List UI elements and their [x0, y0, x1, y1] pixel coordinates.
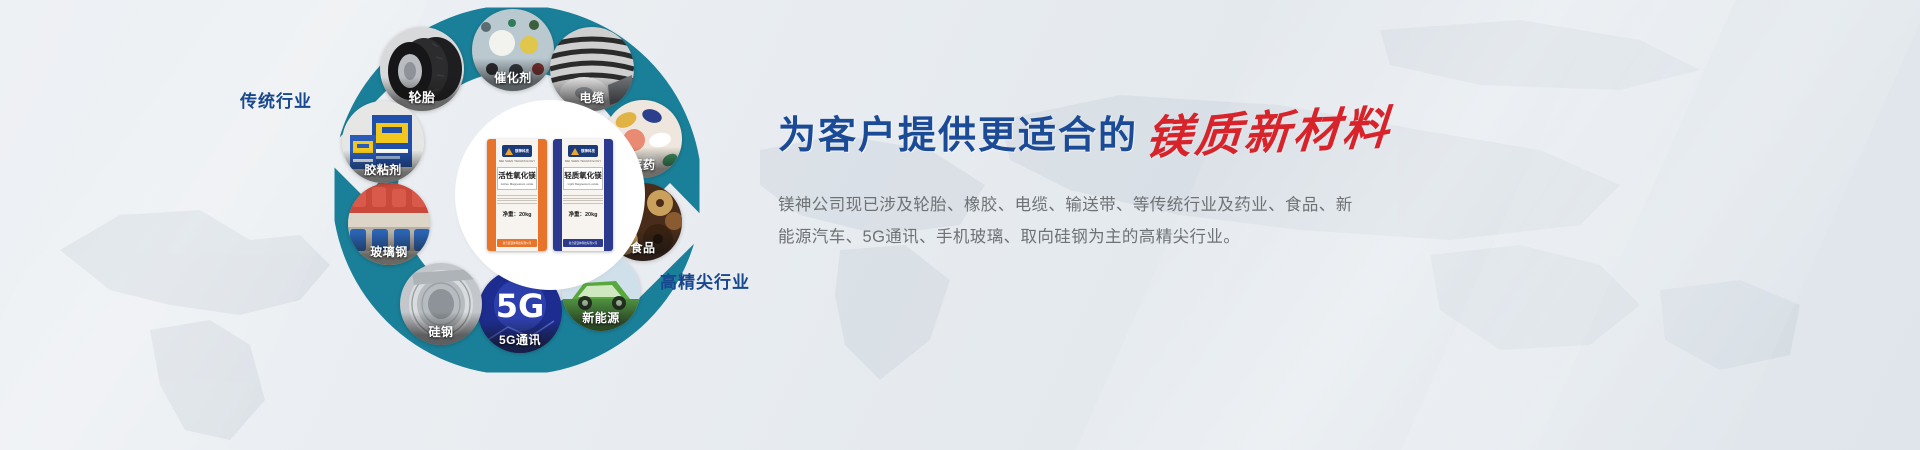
industry-ring-infographic: 轮胎 催化剂	[300, 0, 800, 450]
product-bag-active-mgo[interactable]: 镁神科技 MEI SHEN TECHNOLOGY 活性氧化镁 Active Ma…	[487, 139, 547, 251]
node-label: 硅钢	[400, 312, 482, 345]
node-silicon-steel[interactable]: 硅钢	[400, 263, 482, 345]
node-label: 玻璃钢	[348, 232, 430, 265]
description: 镁神公司现已涉及轮胎、橡胶、电缆、输送带、等传统行业及药业、食品、新 能源汽车、…	[778, 189, 1378, 253]
section-label-high-tech: 高精尖行业	[660, 268, 750, 293]
product-name: 活性氧化镁	[498, 172, 536, 180]
node-label: 胶粘剂	[342, 150, 424, 183]
product-panel: 轻质氧化镁 Light Magnesium oxide	[563, 167, 603, 190]
bag-side-stripe	[538, 139, 547, 251]
brand-tagline: MEI SHEN TECHNOLOGY	[565, 159, 601, 163]
company-footer: 复合镁镁神科技有限公司	[563, 239, 603, 247]
node-cable[interactable]: 电缆	[550, 27, 634, 111]
brand-tagline: MEI SHEN TECHNOLOGY	[499, 159, 535, 163]
node-label: 5G通讯	[478, 319, 562, 353]
spec-lines	[497, 194, 537, 206]
banner-copy: 为客户提供更适合的 镁质新材料 镁神公司现已涉及轮胎、橡胶、电缆、输送带、等传统…	[778, 104, 1478, 253]
product-bag-light-mgo[interactable]: 镁神科技 MEI SHEN TECHNOLOGY 轻质氧化镁 Light Mag…	[553, 139, 613, 251]
product-weight: 净重：20kg	[568, 210, 597, 218]
headline-main-text: 为客户提供更适合的	[778, 104, 1138, 159]
center-products-disc: 镁神科技 MEI SHEN TECHNOLOGY 活性氧化镁 Active Ma…	[460, 105, 640, 285]
bag-side-stripe	[604, 139, 613, 251]
spec-lines	[563, 194, 603, 206]
node-frp[interactable]: 玻璃钢	[348, 183, 430, 265]
product-name-en: Light Magnesium oxide	[564, 182, 602, 186]
description-line-1: 镁神公司现已涉及轮胎、橡胶、电缆、输送带、等传统行业及药业、食品、新	[778, 189, 1378, 221]
brand-logo: 镁神科技	[502, 145, 532, 157]
node-label: 催化剂	[472, 58, 554, 91]
node-label: 新能源	[562, 300, 640, 331]
bag-side-stripe	[553, 139, 562, 251]
product-panel: 活性氧化镁 Active Magnesium oxide	[497, 167, 537, 190]
company-footer: 复合镁镁神科技有限公司	[497, 239, 537, 247]
ring-wrap: 轮胎 催化剂	[332, 5, 702, 375]
product-name-en: Active Magnesium oxide	[498, 182, 536, 186]
bag-side-stripe	[487, 139, 496, 251]
product-name: 轻质氧化镁	[564, 172, 602, 180]
product-weight: 净重：20kg	[502, 210, 531, 218]
section-label-traditional: 传统行业	[240, 87, 312, 112]
headline: 为客户提供更适合的 镁质新材料	[778, 104, 1478, 159]
description-line-2: 能源汽车、5G通讯、手机玻璃、取向硅钢为主的高精尖行业。	[778, 221, 1378, 253]
node-adhesive[interactable]: 胶粘剂	[342, 101, 424, 183]
node-catalyst[interactable]: 催化剂	[472, 9, 554, 91]
headline-accent-text: 镁质新材料	[1144, 106, 1393, 159]
node-tire[interactable]: 轮胎	[380, 27, 464, 111]
brand-logo: 镁神科技	[568, 145, 598, 157]
